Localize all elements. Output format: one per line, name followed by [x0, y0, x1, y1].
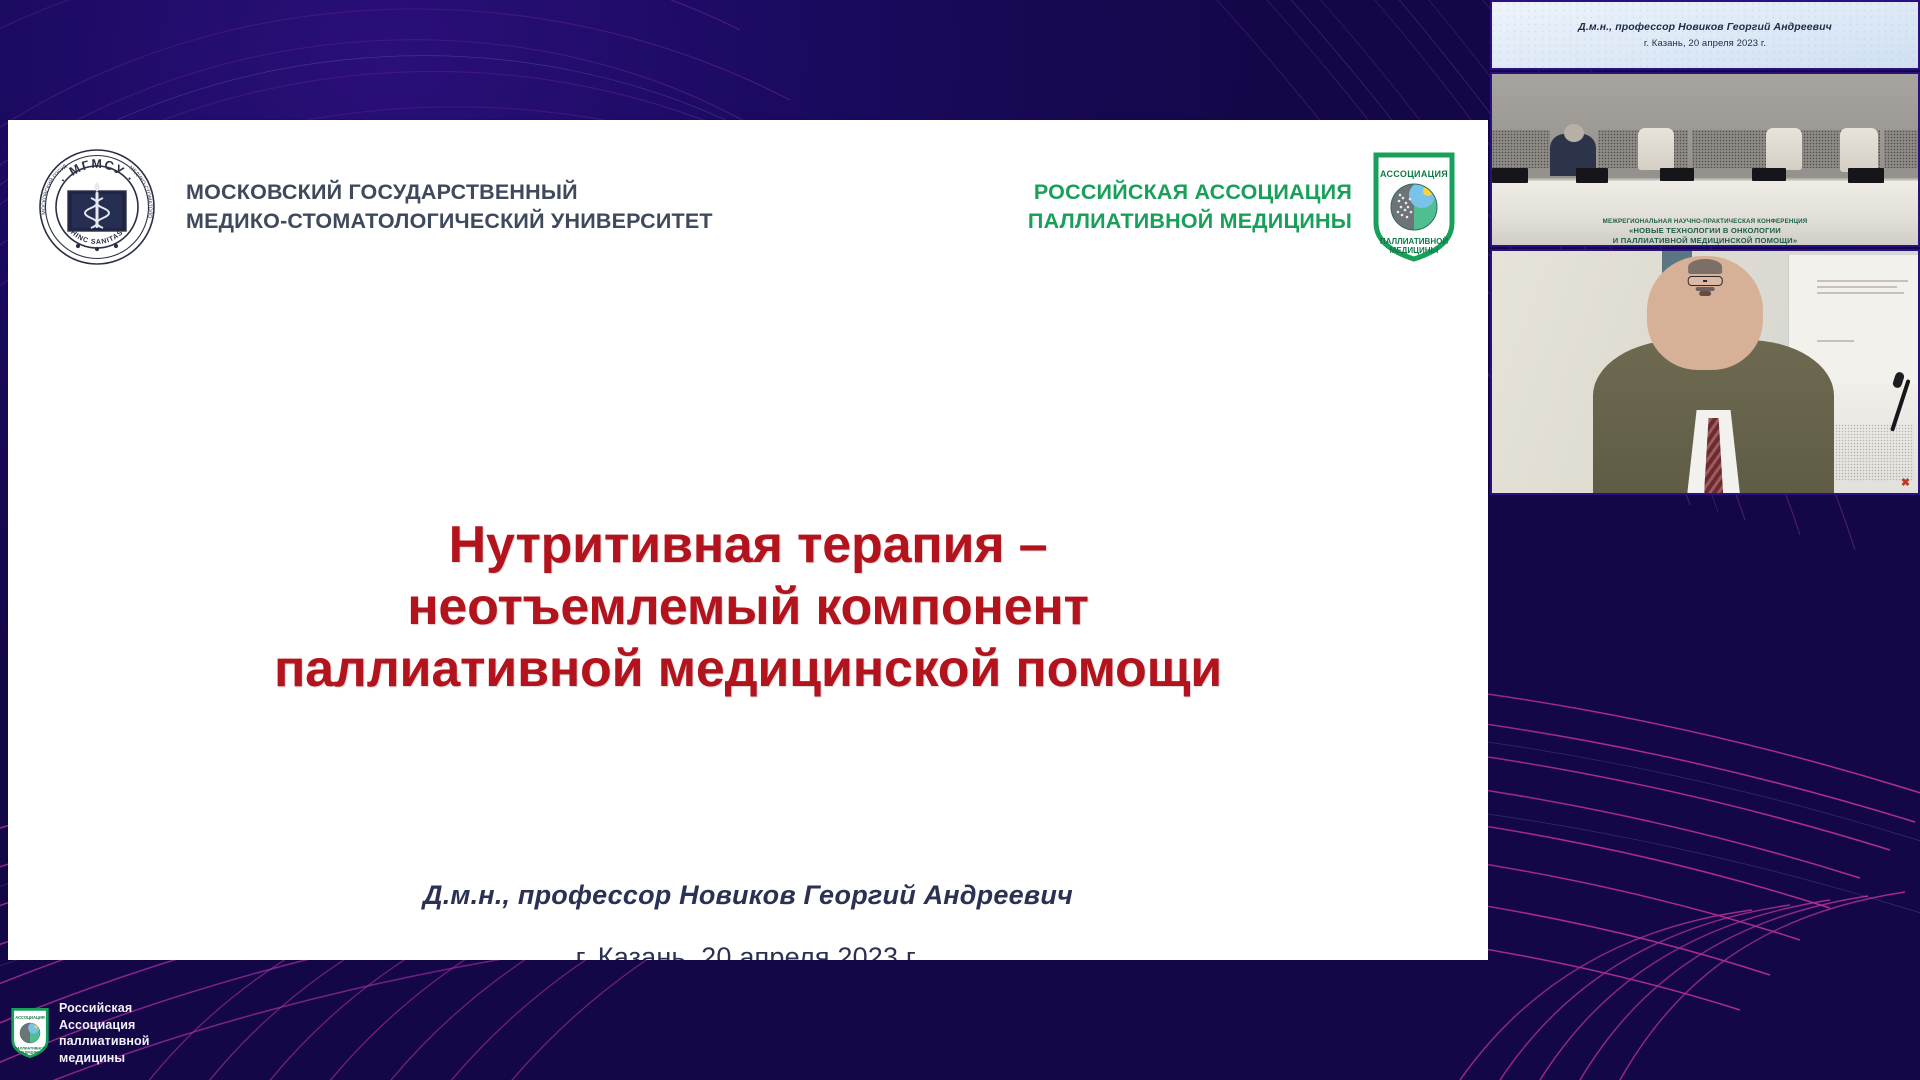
association-watermark: АССОЦИАЦИЯ ПАЛЛИАТИВНОЙ МЕДИЦИНЫ Российс… — [10, 1000, 150, 1066]
svg-text:МЕДИЦИНЫ: МЕДИЦИНЫ — [19, 1050, 41, 1054]
banner-line-2: «НОВЫЕ ТЕХНОЛОГИИ В ОНКОЛОГИИ — [1490, 226, 1920, 235]
university-branding: · МГМСУ · HINC SANITAS МОСКОВСКИЙ ГОСУДА… — [38, 148, 713, 266]
svg-text:ПАЛЛИАТИВНОЙ: ПАЛЛИАТИВНОЙ — [15, 1046, 46, 1050]
svg-text:· МГМСУ ·: · МГМСУ · — [57, 157, 138, 186]
conference-banner: МЕЖРЕГИОНАЛЬНАЯ НАУЧНО-ПРАКТИЧЕСКАЯ КОНФ… — [1490, 218, 1920, 245]
mini-slide-dot-texture — [1490, 0, 1920, 70]
svg-text:АССОЦИАЦИЯ: АССОЦИАЦИЯ — [1380, 169, 1448, 179]
slide-header: · МГМСУ · HINC SANITAS МОСКОВСКИЙ ГОСУДА… — [8, 142, 1488, 272]
watermark-shield-icon: АССОЦИАЦИЯ ПАЛЛИАТИВНОЙ МЕДИЦИНЫ — [10, 1007, 50, 1059]
video-tile-conference-room[interactable]: МЕЖРЕГИОНАЛЬНАЯ НАУЧНО-ПРАКТИЧЕСКАЯ КОНФ… — [1490, 72, 1920, 247]
glasses-icon — [1688, 276, 1723, 286]
slide-title: Нутритивная терапия – неотъемлемый компо… — [68, 515, 1428, 701]
svg-text:АССОЦИАЦИЯ: АССОЦИАЦИЯ — [15, 1015, 45, 1020]
association-name: РОССИЙСКАЯ АССОЦИАЦИЯ ПАЛЛИАТИВНОЙ МЕДИЦ… — [1028, 178, 1352, 235]
mgmsu-seal-icon: · МГМСУ · HINC SANITAS МОСКОВСКИЙ ГОСУДА… — [38, 148, 156, 266]
svg-text:МЕДИЦИНЫ: МЕДИЦИНЫ — [1390, 246, 1439, 255]
speaker-scene: ✖ — [1490, 249, 1920, 495]
video-tile-shared-slide[interactable]: Д.м.н., профессор Новиков Георгий Андрее… — [1490, 0, 1920, 70]
broadcast-stage: · МГМСУ · HINC SANITAS МОСКОВСКИЙ ГОСУДА… — [0, 0, 1920, 1080]
palliative-association-shield-icon: АССОЦИАЦИЯ — [1370, 151, 1458, 263]
association-branding: РОССИЙСКАЯ АССОЦИАЦИЯ ПАЛЛИАТИВНОЙ МЕДИЦ… — [1028, 151, 1458, 263]
conference-room-scene: МЕЖРЕГИОНАЛЬНАЯ НАУЧНО-ПРАКТИЧЕСКАЯ КОНФ… — [1490, 72, 1920, 247]
speaker-head — [1647, 256, 1763, 369]
watermark-text: Российская Ассоциация паллиативной медиц… — [59, 1000, 150, 1066]
slide-author: Д.м.н., профессор Новиков Георгий Андрее… — [8, 880, 1488, 911]
svg-text:ПАЛЛИАТИВНОЙ: ПАЛЛИАТИВНОЙ — [1380, 237, 1448, 246]
video-thumbnail-column: Д.м.н., профессор Новиков Георгий Андрее… — [1490, 0, 1920, 1080]
banner-line-3: И ПАЛЛИАТИВНОЙ МЕДИЦИНСКОЙ ПОМОЩИ» — [1490, 236, 1920, 245]
university-name: МОСКОВСКИЙ ГОСУДАРСТВЕННЫЙ МЕДИКО-СТОМАТ… — [186, 178, 713, 235]
video-tile-speaker[interactable]: ✖ — [1490, 249, 1920, 495]
presentation-slide[interactable]: · МГМСУ · HINC SANITAS МОСКОВСКИЙ ГОСУДА… — [8, 120, 1488, 960]
banner-line-1: МЕЖРЕГИОНАЛЬНАЯ НАУЧНО-ПРАКТИЧЕСКАЯ КОНФ… — [1490, 218, 1920, 226]
slide-place-date: г. Казань, 20 апреля 2023 г. — [8, 942, 1488, 960]
podium-emblem-icon: ✖ — [1901, 476, 1910, 489]
